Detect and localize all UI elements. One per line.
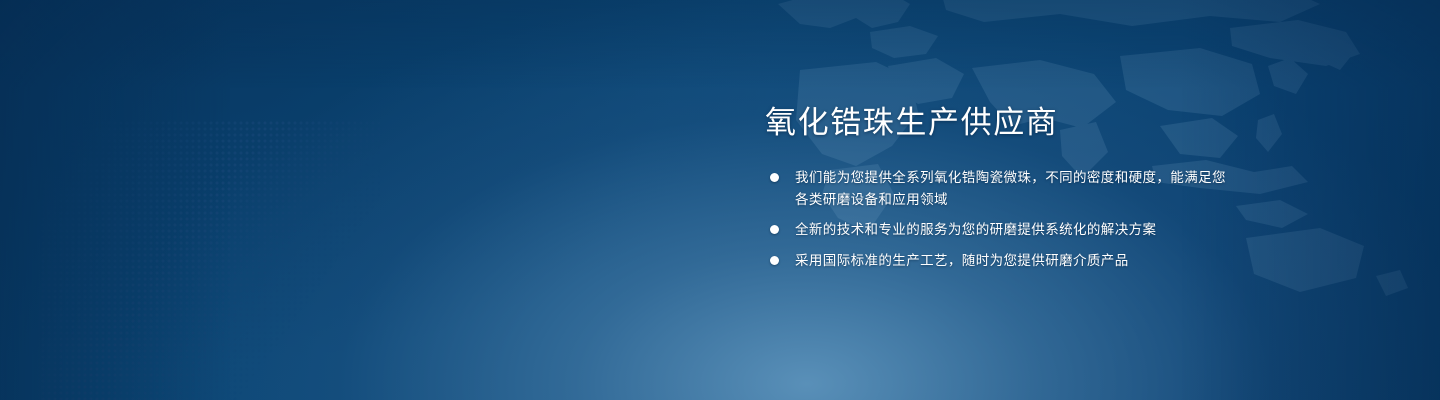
feature-text: 全新的技术和专业的服务为您的研磨提供系统化的解决方案	[795, 219, 1235, 241]
bullet-dot-icon	[770, 256, 779, 265]
feature-list: 我们能为您提供全系列氧化锆陶瓷微珠，不同的密度和硬度，能满足您各类研磨设备和应用…	[765, 167, 1235, 272]
bullet-dot-icon	[770, 173, 779, 182]
feature-text: 采用国际标准的生产工艺，随时为您提供研磨介质产品	[795, 250, 1235, 272]
list-item: 全新的技术和专业的服务为您的研磨提供系统化的解决方案	[765, 219, 1235, 241]
list-item: 采用国际标准的生产工艺，随时为您提供研磨介质产品	[765, 250, 1235, 272]
feature-text: 我们能为您提供全系列氧化锆陶瓷微珠，不同的密度和硬度，能满足您各类研磨设备和应用…	[795, 167, 1235, 211]
banner-headline: 氧化锆珠生产供应商	[765, 106, 1235, 141]
banner-content: 氧化锆珠生产供应商 我们能为您提供全系列氧化锆陶瓷微珠，不同的密度和硬度，能满足…	[765, 106, 1235, 272]
bullet-dot-icon	[770, 225, 779, 234]
hero-banner: 氧化锆珠生产供应商 我们能为您提供全系列氧化锆陶瓷微珠，不同的密度和硬度，能满足…	[0, 0, 1440, 400]
list-item: 我们能为您提供全系列氧化锆陶瓷微珠，不同的密度和硬度，能满足您各类研磨设备和应用…	[765, 167, 1235, 211]
